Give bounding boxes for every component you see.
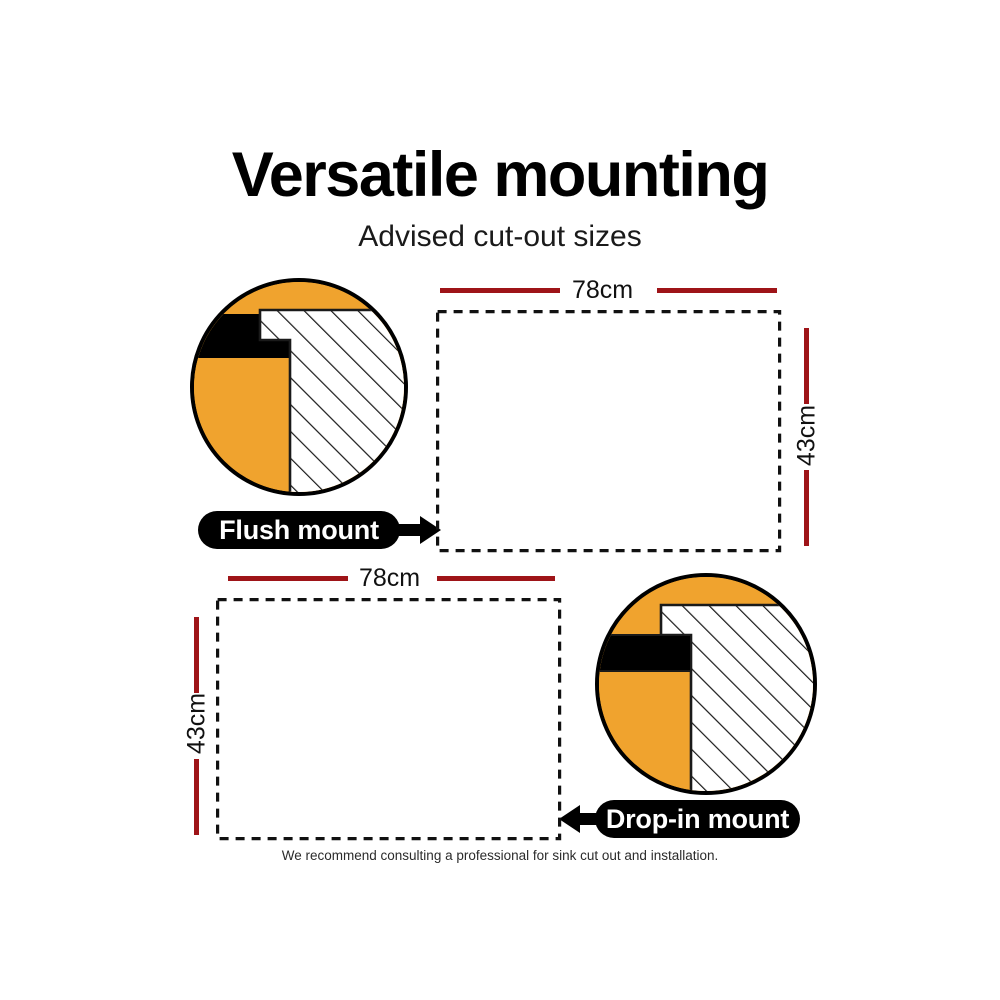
- drop-in-mount-label: Drop-in mount: [606, 804, 789, 835]
- dimension-rule-bottom-left: [228, 576, 348, 581]
- dimension-rule-top-right: [657, 288, 777, 293]
- page-title: Versatile mounting: [0, 144, 1000, 207]
- flush-mount-cutout-rect: [436, 310, 782, 553]
- drop-in-mount-callout-pill[interactable]: Drop-in mount: [595, 800, 800, 838]
- arrow-left-icon: [558, 803, 604, 835]
- footnote-text: We recommend consulting a professional f…: [0, 848, 1000, 863]
- dimension-label-width-bottom: 78cm: [359, 566, 420, 591]
- dimension-rule-right-upper: [804, 328, 809, 404]
- dimension-label-width-top: 78cm: [572, 278, 633, 303]
- dimension-label-height-top: 43cm: [795, 401, 820, 471]
- dimension-rule-left-upper: [194, 617, 199, 693]
- dimension-rule-left-lower: [194, 759, 199, 835]
- flush-mount-label: Flush mount: [219, 515, 379, 546]
- flush-mount-cross-section-icon: [190, 278, 408, 496]
- drop-in-mount-cross-section-icon: [595, 573, 817, 795]
- dimension-label-height-bottom: 43cm: [185, 689, 210, 759]
- dimension-rule-bottom-right: [437, 576, 555, 581]
- drop-in-mount-cutout-rect: [216, 598, 562, 841]
- versatile-mounting-infographic: Versatile mounting Advised cut-out sizes…: [0, 0, 1000, 1000]
- dimension-rule-top-left: [440, 288, 560, 293]
- flush-mount-callout-pill[interactable]: Flush mount: [198, 511, 400, 549]
- page-subtitle: Advised cut-out sizes: [0, 222, 1000, 252]
- dimension-rule-right-lower: [804, 470, 809, 546]
